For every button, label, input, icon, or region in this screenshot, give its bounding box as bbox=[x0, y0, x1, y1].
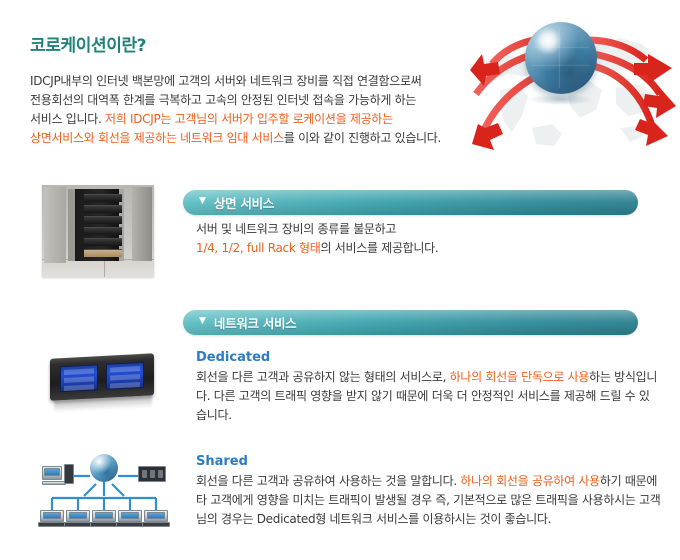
rack-unit bbox=[84, 216, 122, 224]
rack-unit bbox=[84, 227, 122, 235]
drive-slot bbox=[64, 368, 94, 375]
section-header-network-service[interactable]: ▼ 네트워크 서비스 bbox=[183, 310, 638, 335]
shared-block: Shared 회선을 다른 고객과 공유하여 사용하는 것을 말합니다. 하나의… bbox=[196, 452, 668, 529]
drive-slot bbox=[110, 374, 140, 381]
section-header-colocation-space[interactable]: ▼ 상면 서비스 bbox=[183, 190, 638, 215]
laptop-screen bbox=[43, 512, 61, 519]
drive-bay-left bbox=[60, 364, 98, 392]
desktop-tower-icon bbox=[64, 464, 74, 484]
laptop-base bbox=[38, 522, 66, 527]
dedicated-body-highlight: 하나의 회선을 단독으로 사용 bbox=[450, 370, 589, 384]
intro-line-1: IDCJP내부의 인터넷 백본망에 고객의 서버와 네트워크 장비를 직접 연결… bbox=[30, 74, 422, 88]
space-body-line-2-plain: 의 서비스를 제공합니다. bbox=[320, 241, 438, 255]
globe-shadow bbox=[528, 94, 594, 105]
page-title: 코로케이션이란? bbox=[30, 31, 146, 56]
drive-slot bbox=[110, 382, 140, 389]
laptop-base bbox=[90, 522, 118, 527]
space-body-line-1: 서버 및 네트워크 장비의 종류를 불문하고 bbox=[196, 222, 396, 236]
diagram-globe-icon bbox=[90, 454, 118, 482]
laptop-screen bbox=[95, 512, 113, 519]
rack-right-panel bbox=[132, 187, 152, 261]
section-header-label: 상면 서비스 bbox=[214, 193, 274, 212]
space-body-highlight: 1/4, 1/2, full Rack 형태 bbox=[196, 241, 320, 255]
drive-slot bbox=[64, 384, 94, 391]
dedicated-subhead: Dedicated bbox=[196, 348, 658, 367]
intro-paragraph: IDCJP내부의 인터넷 백본망에 고객의 서버와 네트워크 장비를 직접 연결… bbox=[30, 72, 480, 148]
rack-unit bbox=[84, 249, 122, 257]
drive-slot bbox=[64, 376, 94, 383]
globe-sphere bbox=[525, 22, 597, 94]
rack-equipment-stack bbox=[68, 189, 124, 261]
laptop-screen bbox=[69, 512, 87, 519]
drive-bay-right bbox=[106, 362, 144, 390]
desktop-screen bbox=[44, 468, 60, 476]
laptop-base bbox=[64, 522, 92, 527]
laptop-screen bbox=[147, 512, 165, 519]
network-topology-diagram bbox=[34, 450, 170, 536]
drive-slot bbox=[110, 366, 140, 373]
laptop-base bbox=[142, 522, 170, 527]
rackmount-server-photo bbox=[42, 348, 162, 416]
intro-line-2: 전용회선의 대역폭 한계를 극복하고 고속의 안정된 인터넷 접속을 가능하게 … bbox=[30, 93, 416, 107]
switch-port bbox=[158, 470, 163, 478]
shared-body-highlight: 하나의 회선을 공유하여 사용 bbox=[460, 474, 599, 488]
intro-line-4-highlight: 상면서비스와 회선을 제공하는 네트워크 임대 서비스 bbox=[30, 131, 284, 145]
rack-unit bbox=[84, 194, 122, 202]
dedicated-body-part-1: 회선을 다른 고객과 공유하지 않는 형태의 서비스로, bbox=[196, 370, 450, 384]
intro-line-3-plain: 서비스 입니다. bbox=[30, 112, 105, 126]
rack-left-panel bbox=[44, 187, 66, 263]
shared-subhead: Shared bbox=[196, 452, 668, 471]
colocation-space-body: 서버 및 네트워크 장비의 종류를 불문하고 1/4, 1/2, full Ra… bbox=[196, 220, 626, 258]
chevron-down-icon: ▼ bbox=[199, 317, 206, 326]
chevron-down-icon: ▼ bbox=[199, 197, 206, 206]
laptop-base bbox=[116, 522, 144, 527]
server-chassis bbox=[50, 353, 154, 400]
rack-unit bbox=[84, 238, 122, 246]
intro-line-3-highlight: 저희 IDCJP는 고객님의 서버가 입주할 로케이션을 제공하는 bbox=[105, 112, 393, 126]
globe-illustration bbox=[470, 2, 680, 170]
intro-line-4-plain: 를 이와 같이 진행하고 있습니다. bbox=[284, 131, 441, 145]
dedicated-block: Dedicated 회선을 다른 고객과 공유하지 않는 형태의 서비스로, 하… bbox=[196, 348, 658, 425]
server-rack-photo bbox=[42, 185, 154, 277]
switch-port bbox=[150, 470, 155, 478]
section-header-label: 네트워크 서비스 bbox=[214, 313, 296, 332]
switch-port bbox=[142, 470, 147, 478]
shared-body-part-1: 회선을 다른 고객과 공유하여 사용하는 것을 말합니다. bbox=[196, 474, 460, 488]
rack-unit bbox=[84, 205, 122, 213]
desktop-keyboard-icon bbox=[42, 481, 66, 485]
laptop-screen bbox=[121, 512, 139, 519]
